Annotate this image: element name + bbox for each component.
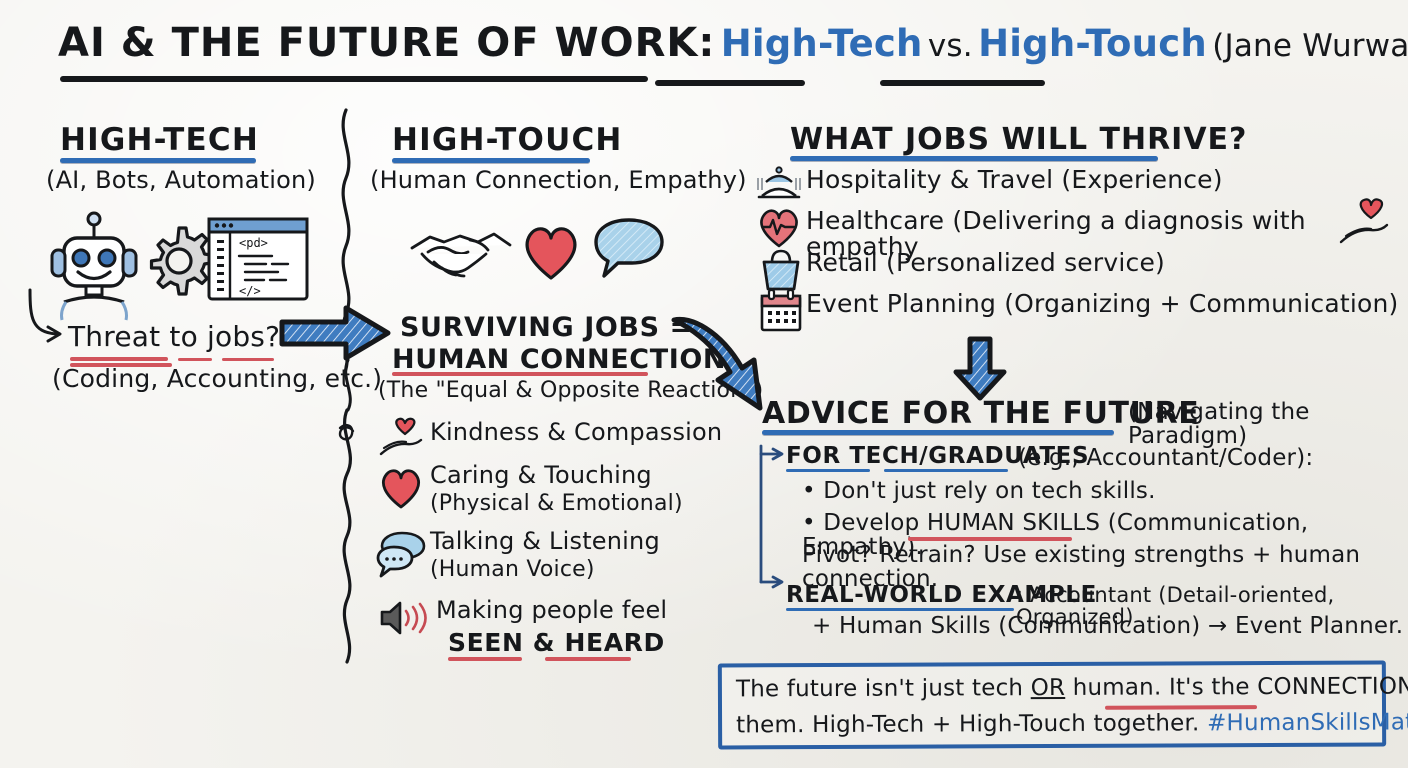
list-item-label: Caring & Touching bbox=[430, 463, 652, 488]
thrive-heading-underline bbox=[790, 156, 1158, 161]
whiteboard-canvas: AI & THE FUTURE OF WORK: High-Tech vs. H… bbox=[0, 0, 1408, 768]
heart-icon bbox=[520, 222, 582, 282]
heart-in-hand-icon bbox=[1338, 198, 1398, 250]
bullet-dot: • bbox=[802, 510, 823, 536]
callout-line-1: The future isn't just tech OR human. It'… bbox=[736, 674, 1408, 702]
callout-line1-pre: The future isn't just tech bbox=[736, 675, 1031, 702]
heartbeat-icon bbox=[756, 206, 802, 250]
title-high-tech: High-Tech bbox=[721, 22, 923, 65]
graduates-underline bbox=[884, 469, 1008, 472]
seen-and-heard-label: SEEN & HEARD bbox=[448, 628, 665, 657]
thrive-item-label: Event Planning (Organizing + Communicati… bbox=[806, 291, 1398, 317]
right-arrow-icon bbox=[280, 306, 392, 362]
high-touch-heading: HIGH-TOUCH bbox=[392, 122, 623, 158]
room-service-icon bbox=[756, 166, 802, 210]
advice-heading-underline bbox=[762, 430, 1114, 435]
for-tech-underline bbox=[786, 469, 870, 472]
threat-underline-to bbox=[178, 358, 212, 361]
human-skills-underline bbox=[908, 537, 1072, 541]
threat-examples-text: (Coding, Accounting, etc.) bbox=[52, 366, 382, 392]
high-tech-heading-underline bbox=[60, 158, 256, 163]
title-main: AI & THE FUTURE OF WORK: bbox=[58, 20, 715, 66]
down-arrow-icon bbox=[952, 336, 1008, 402]
gear-icon bbox=[142, 224, 216, 298]
title-underline-main bbox=[60, 76, 648, 82]
list-item-label: Kindness & Compassion bbox=[430, 420, 722, 445]
calendar-icon bbox=[758, 288, 804, 334]
advice-heading-note: (Navigating the Paradigm) bbox=[1128, 400, 1408, 448]
callout-or: OR bbox=[1031, 675, 1066, 701]
heard-underline bbox=[545, 657, 631, 661]
speech-bubble-icon bbox=[592, 216, 666, 282]
advice-section1-note: (e.g., Accountant/Coder): bbox=[1018, 446, 1313, 470]
title-vs: vs. bbox=[928, 28, 973, 64]
speech-bubbles-icon bbox=[376, 531, 428, 579]
svg-text:</>: </> bbox=[239, 284, 261, 298]
thrive-item-label: Retail (Personalized service) bbox=[806, 250, 1165, 276]
speaker-icon bbox=[378, 600, 432, 636]
title-high-touch: High-Touch bbox=[978, 22, 1207, 65]
high-touch-subtitle: (Human Connection, Empathy) bbox=[370, 168, 747, 193]
list-item-sublabel: (Physical & Emotional) bbox=[430, 492, 683, 515]
real-world-underline bbox=[786, 608, 1014, 611]
callout-line2-pre: them. High-Tech + High-Touch together. bbox=[736, 710, 1207, 738]
callout-box: The future isn't just tech OR human. It'… bbox=[718, 661, 1386, 750]
threat-underline-jobs bbox=[222, 358, 274, 361]
connection-underline bbox=[1105, 705, 1257, 710]
list-item-label: Talking & Listening bbox=[430, 529, 660, 554]
human-connection-underline bbox=[392, 372, 648, 376]
title-attribution: (Jane Wurwand’s Insight) bbox=[1212, 28, 1408, 64]
threat-underline-a bbox=[70, 357, 168, 361]
callout-connection: CONNECTION bbox=[1257, 673, 1408, 700]
code-window-icon: <pd> </> bbox=[206, 216, 310, 302]
bullet-2-emph: HUMAN SKILLS bbox=[927, 510, 1100, 536]
thrive-item-label: Hospitality & Travel (Experience) bbox=[806, 167, 1223, 193]
high-touch-heading-underline bbox=[392, 158, 590, 163]
seen-underline bbox=[448, 657, 522, 661]
threat-underline-a2 bbox=[70, 363, 172, 367]
surviving-jobs-line1: SURVIVING JOBS = bbox=[400, 312, 693, 343]
shopping-bag-icon bbox=[760, 248, 802, 292]
heart-icon bbox=[378, 466, 424, 510]
title-underline-high-tech bbox=[655, 80, 805, 86]
high-tech-heading: HIGH-TECH bbox=[60, 122, 259, 158]
handshake-icon bbox=[408, 218, 514, 284]
threat-to-jobs-text: Threat to jobs? bbox=[68, 322, 280, 351]
title-underline-high-touch bbox=[880, 80, 1045, 86]
list-item-sublabel: (Human Voice) bbox=[430, 558, 595, 581]
list-item-label: Making people feel bbox=[436, 598, 667, 623]
svg-text:<pd>: <pd> bbox=[239, 236, 268, 250]
bullet-2-pre: Develop bbox=[823, 510, 927, 536]
advice-bullet-1: • Don't just rely on tech skills. bbox=[802, 479, 1156, 503]
callout-hashtag: #HumanSkillsMatter bbox=[1207, 709, 1408, 736]
page-title: AI & THE FUTURE OF WORK: High-Tech vs. H… bbox=[58, 22, 1408, 64]
high-tech-subtitle: (AI, Bots, Automation) bbox=[46, 168, 316, 193]
advice-section2-line2: + Human Skills (Communication) → Event P… bbox=[812, 614, 1403, 638]
thrive-heading: WHAT JOBS WILL THRIVE? bbox=[790, 122, 1247, 157]
callout-line-2: them. High-Tech + High-Touch together. #… bbox=[736, 710, 1408, 737]
heart-in-hand-icon bbox=[378, 418, 424, 460]
callout-line1-mid: human. It's the bbox=[1065, 674, 1257, 701]
